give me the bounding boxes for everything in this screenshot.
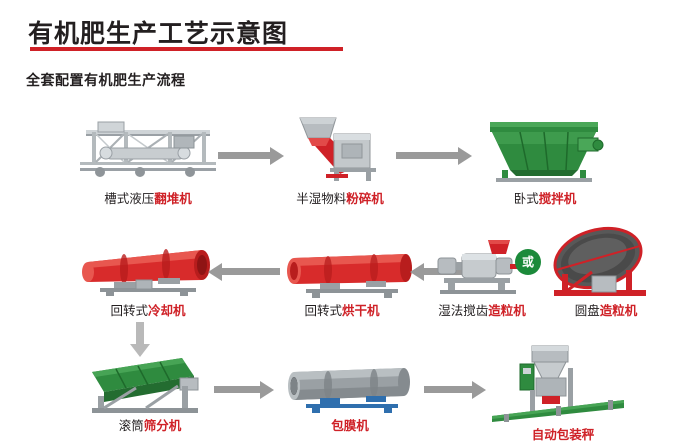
caption-drum-screener-highlight: 筛分机: [144, 418, 182, 433]
machine-coating-machine: [286, 356, 414, 414]
caption-horizontal-mixer: 卧式搅拌机: [485, 188, 605, 207]
machine-drum-screener: [86, 352, 208, 414]
caption-rotary-dryer: 回转式烘干机: [282, 300, 402, 319]
caption-rotary-cooler: 回转式冷却机: [88, 300, 208, 319]
machine-wet-stirring-granulator: [436, 238, 522, 294]
caption-trough-turner-plain: 槽式液压: [104, 191, 154, 206]
caption-trough-turner-highlight: 翻堆机: [154, 191, 192, 206]
page-subtitle: 全套配置有机肥生产流程: [26, 70, 186, 90]
caption-rotary-cooler-plain: 回转式: [110, 303, 148, 318]
machine-crusher: [296, 116, 382, 184]
caption-wet-stirring-granulator-highlight: 造粒机: [488, 303, 526, 318]
machine-rotary-cooler: [80, 236, 216, 296]
arrow-cooler-to-screener: [136, 322, 144, 356]
caption-disc-granulator-highlight: 造粒机: [600, 303, 638, 318]
caption-drum-screener-plain: 滚筒: [119, 418, 144, 433]
caption-automatic-packing-scale: 自动包装秤: [496, 424, 630, 443]
caption-disc-granulator-plain: 圆盘: [575, 303, 600, 318]
diagram-root: 有机肥生产工艺示意图 全套配置有机肥生产流程: [0, 0, 700, 446]
caption-crusher: 半湿物料粉碎机: [280, 188, 400, 207]
caption-rotary-dryer-plain: 回转式: [304, 303, 342, 318]
machine-horizontal-mixer: [486, 120, 604, 182]
caption-trough-turner: 槽式液压翻堆机: [88, 188, 208, 207]
machine-rotary-dryer: [288, 240, 416, 298]
title-underline: [30, 47, 343, 51]
caption-drum-screener: 滚筒筛分机: [90, 415, 210, 434]
machine-automatic-packing-scale: [490, 344, 630, 422]
caption-wet-stirring-granulator: 湿法搅齿造粒机: [420, 300, 544, 319]
machine-disc-granulator: [540, 226, 660, 300]
page-title: 有机肥生产工艺示意图: [28, 14, 288, 50]
machine-trough-turner: [78, 118, 218, 180]
caption-coating-machine: 包膜机: [290, 415, 410, 434]
caption-automatic-packing-scale-highlight: 自动包装秤: [532, 427, 595, 442]
caption-horizontal-mixer-highlight: 搅拌机: [539, 191, 577, 206]
caption-crusher-plain: 半湿物料: [296, 191, 346, 206]
caption-crusher-highlight: 粉碎机: [346, 191, 384, 206]
caption-coating-machine-highlight: 包膜机: [331, 418, 369, 433]
caption-disc-granulator: 圆盘造粒机: [546, 300, 666, 319]
caption-rotary-cooler-highlight: 冷却机: [148, 303, 186, 318]
caption-wet-stirring-granulator-plain: 湿法搅齿: [438, 303, 488, 318]
caption-horizontal-mixer-plain: 卧式: [514, 191, 539, 206]
caption-rotary-dryer-highlight: 烘干机: [342, 303, 380, 318]
or-badge: 或: [515, 249, 541, 275]
